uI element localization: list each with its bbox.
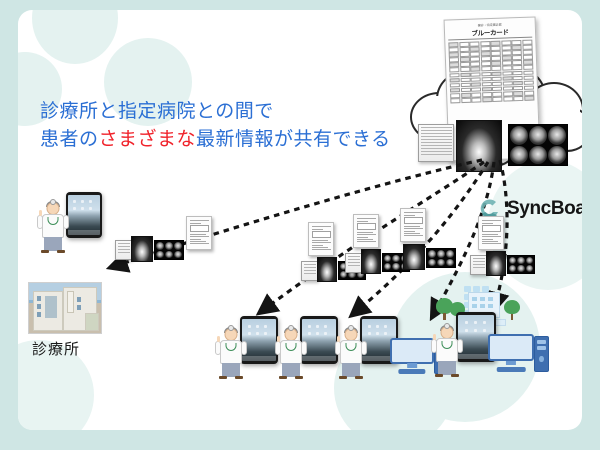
- form-grid: [448, 40, 534, 104]
- workstation-monitor-1[interactable]: [390, 338, 434, 374]
- headline-line2-part1: 患者の: [40, 129, 99, 150]
- ct-thumb: [154, 240, 184, 260]
- headline-line2-highlight: さまざまな: [99, 129, 197, 150]
- headline-line-2: 患者のさまざまな最新情報が共有できる: [40, 126, 391, 154]
- ct-scan-grid: [508, 124, 568, 166]
- form-title: ブルーカード: [448, 26, 532, 41]
- slide-canvas: 診療所と指定病院との間で 患者のさまざまな最新情報が共有できる 健診・特定健診票…: [0, 0, 600, 450]
- tablet-screen: [68, 195, 100, 235]
- clinic-label: 診療所: [32, 338, 80, 359]
- headline-text: 診療所と指定病院との間で 患者のさまざまな最新情報が共有できる: [40, 98, 391, 154]
- record-ledger: [418, 124, 454, 162]
- syncboard-name: SyncBoard: [507, 198, 582, 220]
- decorative-blob: [32, 10, 118, 64]
- workstation-tower-2[interactable]: [534, 336, 549, 372]
- hospital-doctor: [430, 326, 464, 378]
- headline-line2-part3: 最新情報が共有できる: [196, 129, 391, 150]
- headline-line1-text: 診療所と指定病院との間で: [40, 101, 274, 122]
- doctor-1: [214, 328, 248, 380]
- clinic-building-photo: [28, 282, 102, 334]
- tree-icon: [504, 300, 520, 320]
- chest-xray-image: [456, 120, 502, 172]
- clinic-tablet[interactable]: [66, 192, 102, 238]
- headline-line-1: 診療所と指定病院との間で: [40, 98, 391, 126]
- doctor-2: [274, 328, 308, 380]
- doctor-3: [334, 328, 368, 380]
- document-thumb: [186, 216, 212, 250]
- slide-panel: 診療所と指定病院との間で 患者のさまざまな最新情報が共有できる 健診・特定健診票…: [18, 10, 582, 430]
- clinic-doctor: [36, 202, 70, 254]
- xray-thumb: [131, 236, 153, 262]
- workstation-monitor-2[interactable]: [488, 334, 534, 372]
